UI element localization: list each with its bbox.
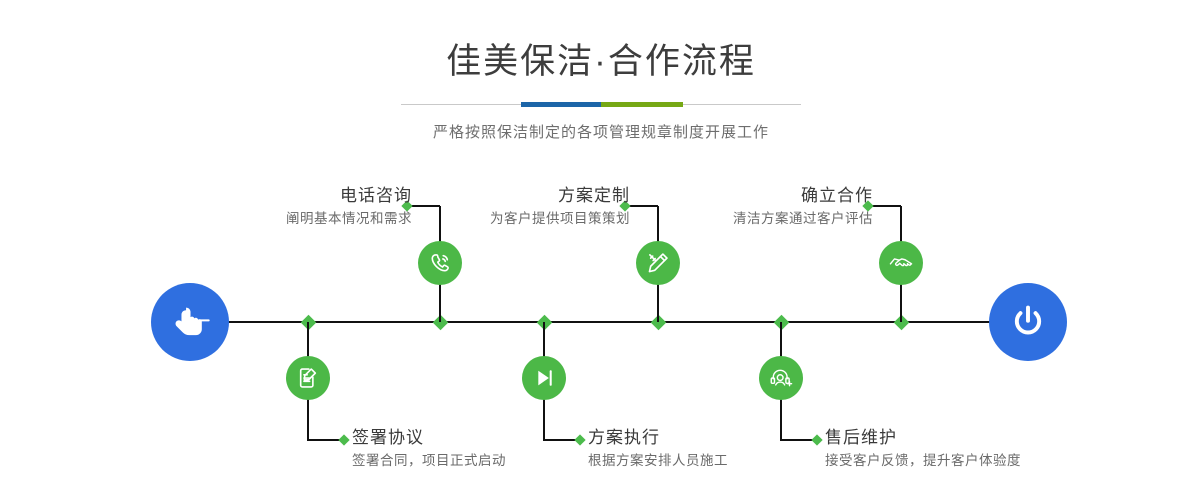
step-icon-6[interactable] <box>759 356 803 400</box>
header: 佳美保洁·合作流程 严格按照保洁制定的各项管理规章制度开展工作 <box>0 0 1202 142</box>
pencil-ruler-icon <box>645 250 671 276</box>
flow-end-node[interactable] <box>989 283 1067 361</box>
divider-segment-green <box>601 102 683 107</box>
step-text-6: 售后维护 接受客户反馈，提升客户体验度 <box>825 428 1021 470</box>
flow-diagram: 佳美保洁·合作流程 严格按照保洁制定的各项管理规章制度开展工作 <box>0 0 1202 502</box>
step-title-1: 电话咨询 <box>286 186 412 206</box>
play-skip-icon <box>531 365 557 391</box>
headset-support-icon <box>768 365 794 391</box>
step-text-5: 确立合作 清洁方案通过客户评估 <box>733 186 873 228</box>
step-title-6: 售后维护 <box>825 428 1021 448</box>
page-subtitle: 严格按照保洁制定的各项管理规章制度开展工作 <box>0 112 1202 142</box>
step-text-1: 电话咨询 阐明基本情况和需求 <box>286 186 412 228</box>
step-icon-2[interactable] <box>286 356 330 400</box>
connector-horizontal-5 <box>871 205 901 207</box>
step-text-2: 签署协议 签署合同，项目正式启动 <box>352 428 506 470</box>
title-divider <box>401 98 801 112</box>
label-marker-6 <box>811 434 822 445</box>
page-title: 佳美保洁·合作流程 <box>0 0 1202 82</box>
step-desc-1: 阐明基本情况和需求 <box>286 206 412 228</box>
flow-start-node[interactable] <box>151 283 229 361</box>
connector-horizontal-1 <box>410 205 440 207</box>
step-desc-3: 为客户提供项目策策划 <box>490 206 630 228</box>
step-title-2: 签署协议 <box>352 428 506 448</box>
step-desc-2: 签署合同，项目正式启动 <box>352 448 506 470</box>
step-desc-5: 清洁方案通过客户评估 <box>733 206 873 228</box>
step-icon-1[interactable] <box>418 241 462 285</box>
step-icon-3[interactable] <box>636 241 680 285</box>
label-marker-4 <box>574 434 585 445</box>
pointing-hand-icon <box>169 301 211 343</box>
step-desc-4: 根据方案安排人员施工 <box>588 448 728 470</box>
connector-horizontal-4 <box>543 439 578 441</box>
document-edit-icon <box>295 365 321 391</box>
step-desc-6: 接受客户反馈，提升客户体验度 <box>825 448 1021 470</box>
step-icon-4[interactable] <box>522 356 566 400</box>
label-marker-2 <box>338 434 349 445</box>
step-text-4: 方案执行 根据方案安排人员施工 <box>588 428 728 470</box>
step-title-3: 方案定制 <box>490 186 630 206</box>
step-title-5: 确立合作 <box>733 186 873 206</box>
divider-segment-blue <box>521 102 601 107</box>
handshake-icon <box>888 250 914 276</box>
phone-call-icon <box>427 250 453 276</box>
connector-horizontal-6 <box>780 439 815 441</box>
step-icon-5[interactable] <box>879 241 923 285</box>
power-icon <box>1007 301 1049 343</box>
connector-horizontal-3 <box>628 205 658 207</box>
connector-horizontal-2 <box>307 439 342 441</box>
step-title-4: 方案执行 <box>588 428 728 448</box>
step-text-3: 方案定制 为客户提供项目策策划 <box>490 186 630 228</box>
